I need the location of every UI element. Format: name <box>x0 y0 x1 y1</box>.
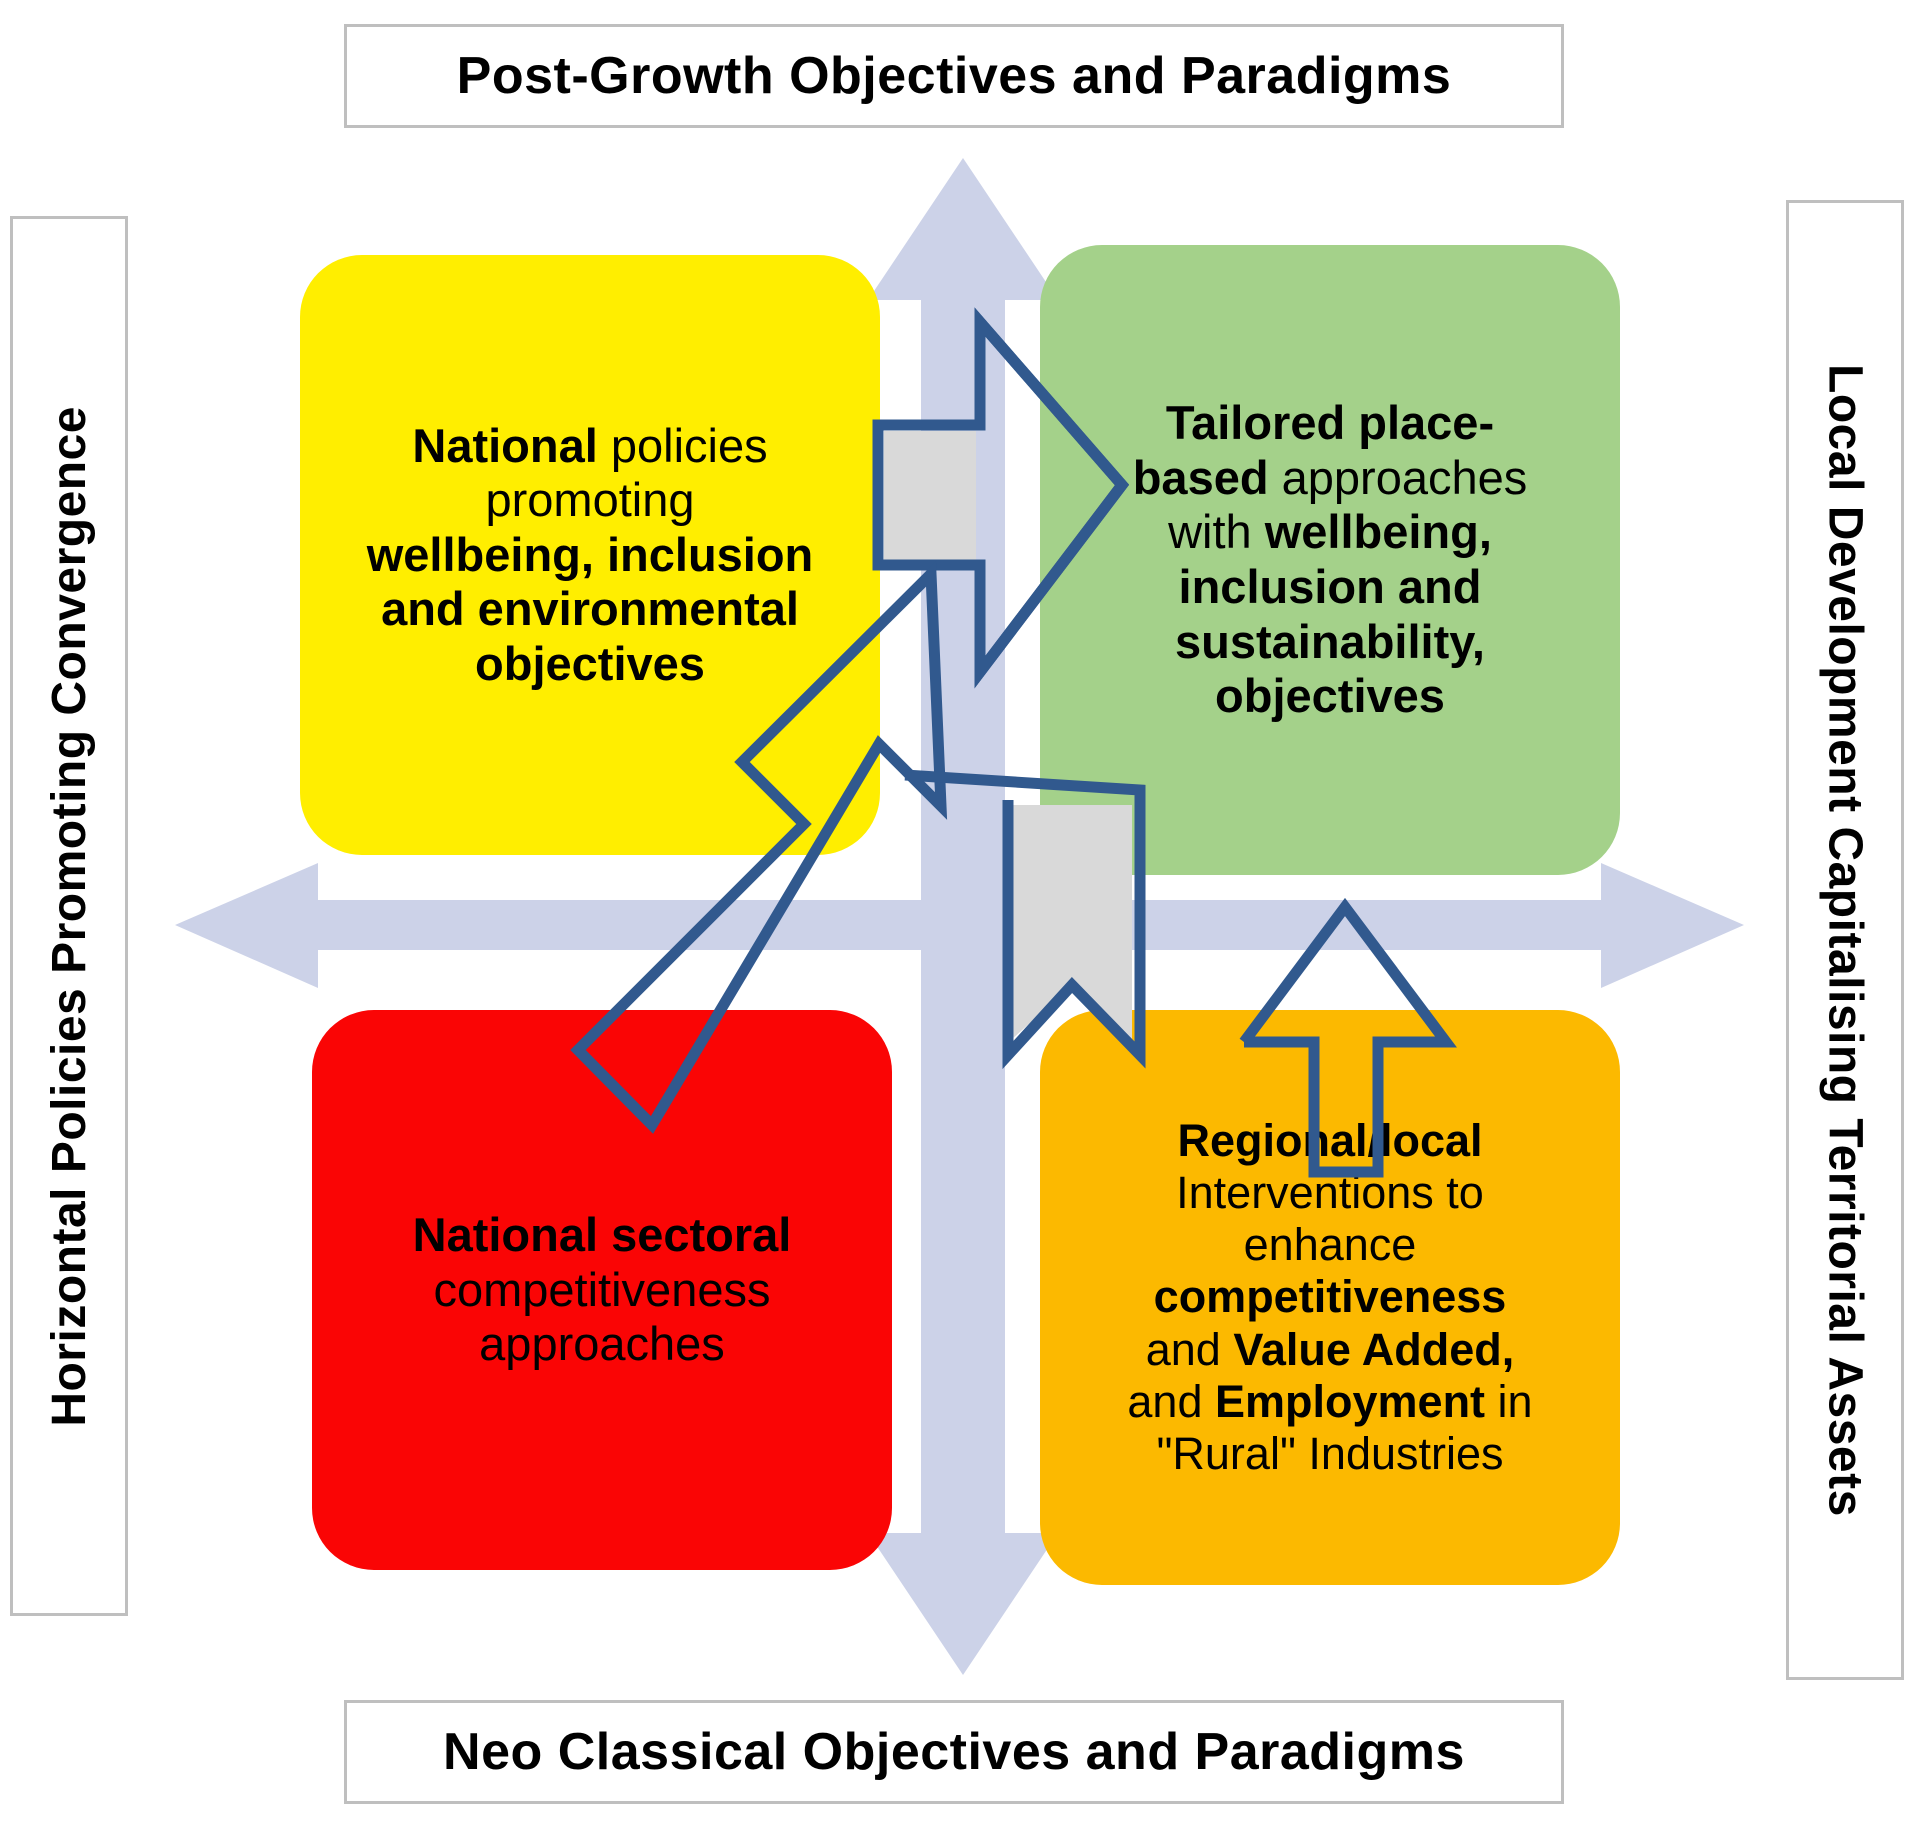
axis-arrow-down-icon <box>868 900 1058 1675</box>
axis-label-right-text: Local Development Capitalising Territori… <box>1818 364 1873 1517</box>
axis-label-top-text: Post-Growth Objectives and Paradigms <box>457 46 1452 106</box>
diagram-canvas: National policiespromotingwellbeing, inc… <box>0 0 1913 1831</box>
axis-label-left: Horizontal Policies Promoting Convergenc… <box>10 216 128 1616</box>
quadrant-tailored-place-based[interactable]: Tailored place-based approacheswith well… <box>1040 245 1620 875</box>
quadrant-national-sectoral[interactable]: National sectoralcompetitivenessapproach… <box>312 1010 892 1570</box>
axis-label-bottom-text: Neo Classical Objectives and Paradigms <box>443 1722 1465 1782</box>
axis-label-right: Local Development Capitalising Territori… <box>1786 200 1904 1680</box>
quadrant-tailored-place-based-text: Tailored place-based approacheswith well… <box>1099 396 1562 723</box>
axis-arrow-up-icon <box>868 158 1058 900</box>
quadrant-regional-local[interactable]: Regional/localInterventions toenhancecom… <box>1040 1010 1620 1585</box>
axis-arrow-left-icon <box>175 863 963 988</box>
axis-label-top: Post-Growth Objectives and Paradigms <box>344 24 1564 128</box>
axis-label-bottom: Neo Classical Objectives and Paradigms <box>344 1700 1564 1804</box>
axis-cross-arrows <box>0 0 1913 1831</box>
quadrant-national-policies-text: National policiespromotingwellbeing, inc… <box>355 419 826 692</box>
quadrant-regional-local-text: Regional/localInterventions toenhancecom… <box>1105 1115 1554 1480</box>
quadrant-national-policies[interactable]: National policiespromotingwellbeing, inc… <box>300 255 880 855</box>
axis-arrow-right-icon <box>963 863 1744 988</box>
axis-label-left-text: Horizontal Policies Promoting Convergenc… <box>42 406 97 1427</box>
quadrant-national-sectoral-text: National sectoralcompetitivenessapproach… <box>389 1208 816 1372</box>
